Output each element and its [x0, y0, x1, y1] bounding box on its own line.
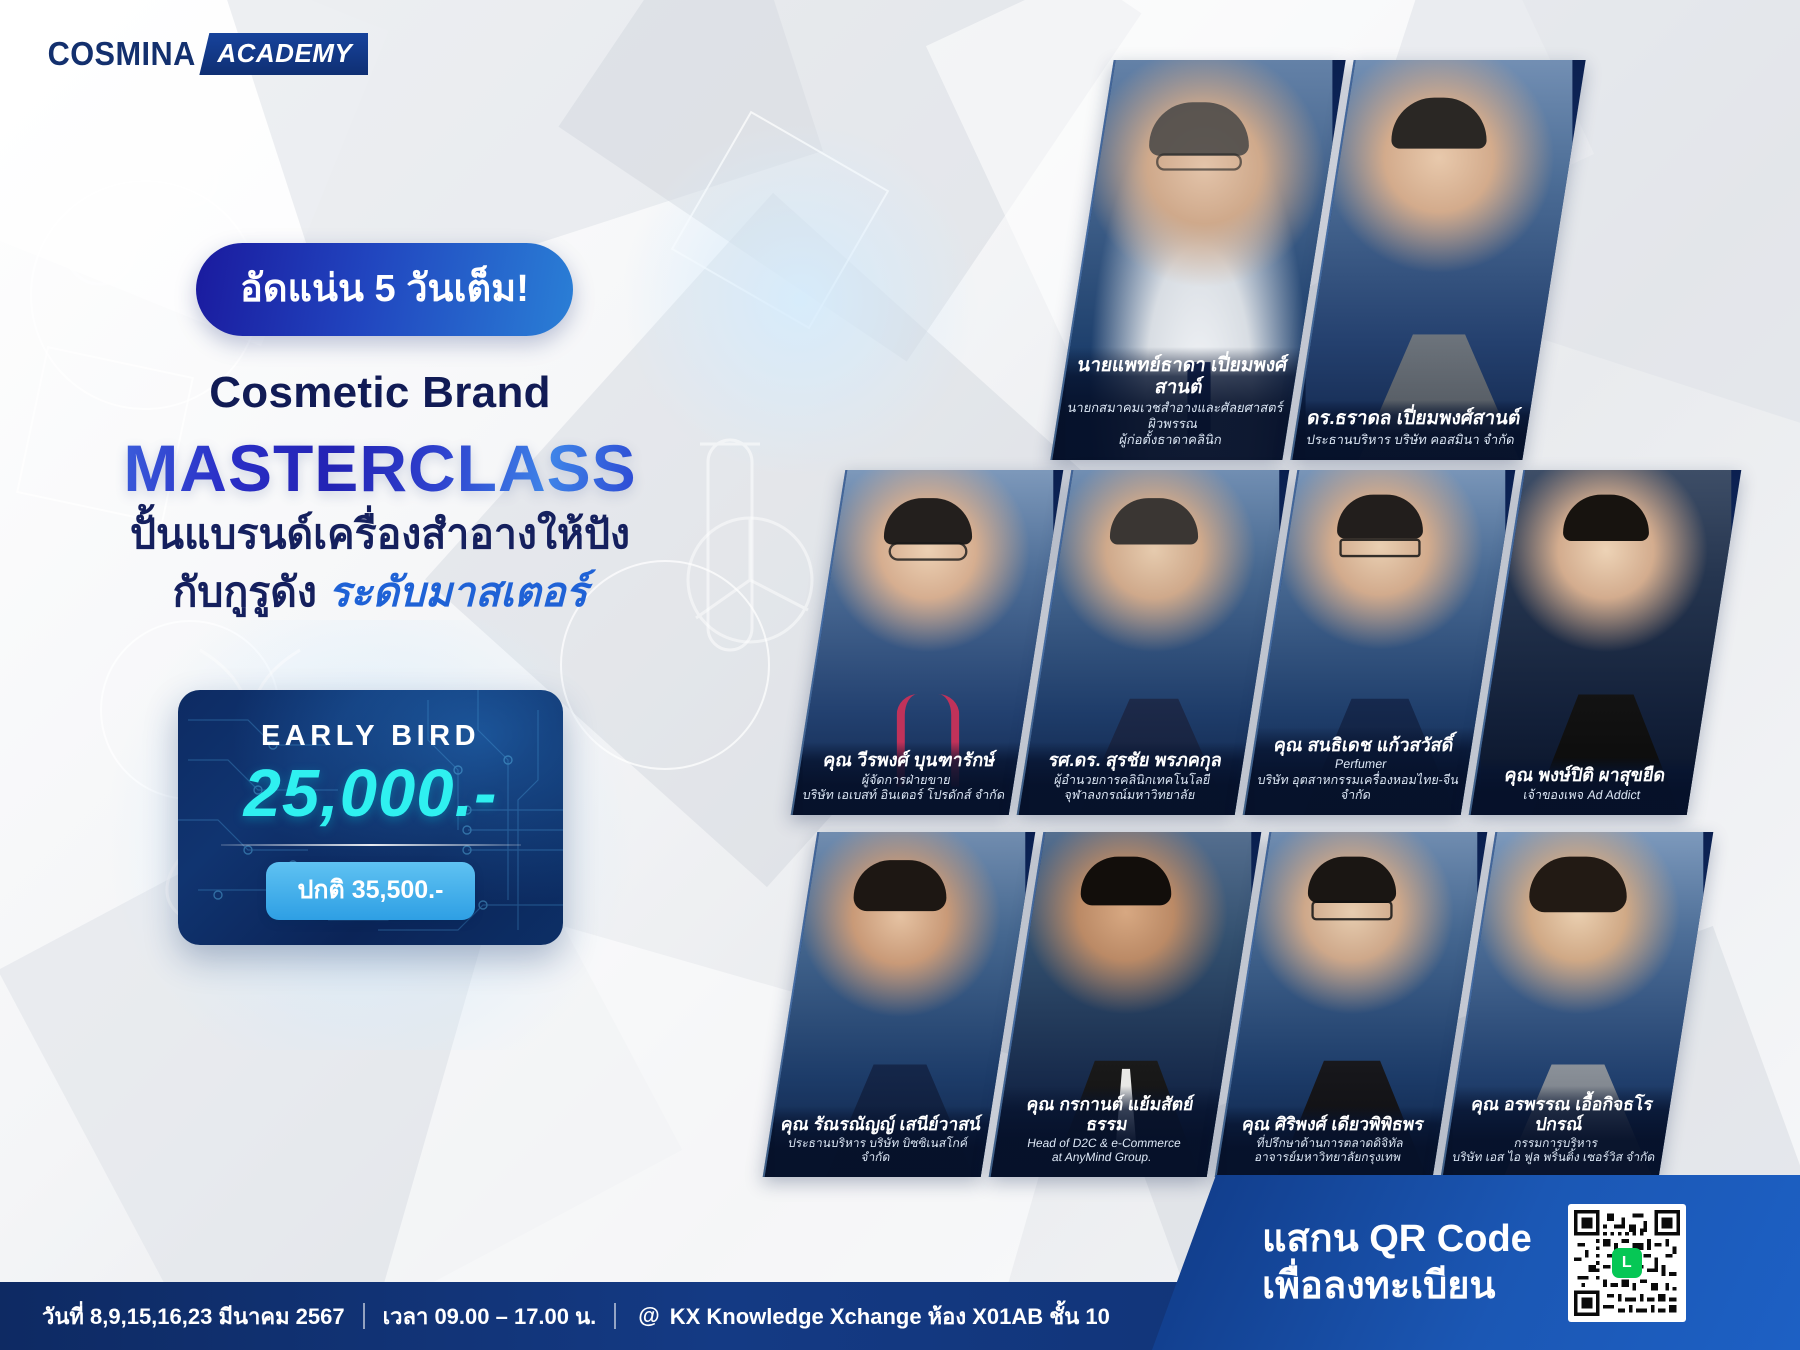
early-bird-amount: 25,000.-: [178, 755, 563, 832]
speaker-glasses-icon: [889, 542, 968, 561]
speaker-name: คุณ รัณรณัญญ์ เสนีย์วาสน์: [778, 1114, 985, 1134]
speaker-name-band: คุณ พงษ์ปิติ ผาสุขยืด เจ้าของเพจ Ad Addi…: [1471, 757, 1696, 815]
speaker-tile: คุณ สนธิเดช แก้วสวัสดิ์ Perfumer บริษัท …: [1243, 470, 1516, 815]
speaker-name: รศ.ดร. สุรชัย พรภคกุล: [1032, 750, 1239, 771]
speaker-role-line-1: ผู้อำนวยการคลินิกเทคโนโลยี: [1029, 773, 1235, 788]
speaker-name-band: คุณ กรกานต์ แย้มสัตย์ธรรม Head of D2C & …: [991, 1086, 1221, 1178]
speaker-role-line-1: ประธานบริหาร บริษัท คอสมินา จำกัด: [1300, 432, 1521, 448]
speaker-role-line-1: เจ้าของเพจ Ad Addict: [1479, 788, 1685, 803]
speaker-role-line-1: กรรมการบริหาร: [1453, 1136, 1659, 1151]
speaker-name: คุณ ศิริพงศ์ เดียวพิพิธพร: [1230, 1114, 1437, 1134]
price-card-content: EARLY BIRD 25,000.- ปกติ 35,500.-: [178, 690, 563, 920]
price-divider: [221, 844, 521, 846]
speaker-tile: รศ.ดร. สุรชัย พรภคกุล ผู้อำนวยการคลินิกเ…: [1017, 470, 1290, 815]
footer-at-symbol: @: [638, 1303, 659, 1329]
speaker-glasses-icon: [1339, 538, 1420, 557]
speaker-role-line-1: ที่ปรึกษาด้านการตลาดดิจิทัล: [1227, 1136, 1433, 1151]
footer-venue: KX Knowledge Xchange ห้อง X01AB ชั้น 10: [670, 1299, 1110, 1334]
speaker-name-band: คุณ ศิริพงศ์ เดียวพิพิธพร ที่ปรึกษาด้านก…: [1217, 1106, 1444, 1177]
speaker-name-band: นายแพทย์ธาดา เปี่ยมพงศ์สานต์ นายกสมาคมเว…: [1052, 347, 1300, 460]
speaker-role-line-2: บริษัท เอเบสท์ อินเตอร์ โปรดักส์ จำกัด: [801, 788, 1007, 803]
speaker-role-line-1: Head of D2C & e-Commerce: [1001, 1136, 1207, 1151]
line-app-icon: L: [1612, 1248, 1642, 1278]
footer-date: วันที่ 8,9,15,16,23 มีนาคม 2567: [42, 1299, 345, 1334]
speaker-tile: คุณ ศิริพงศ์ เดียวพิพิธพร ที่ปรึกษาด้านก…: [1215, 832, 1488, 1177]
early-bird-label: EARLY BIRD: [178, 720, 563, 753]
speaker-name-band: คุณ วีรพงศ์ บุนฑารักษ์ ผู้จัดการฝ่ายขาย …: [793, 742, 1021, 815]
speaker-name-band: รศ.ดร. สุรชัย พรภคกุล ผู้อำนวยการคลินิกเ…: [1019, 742, 1247, 815]
speaker-glasses-icon: [1311, 900, 1392, 920]
qr-line-2: เพื่อลงทะเบียน: [1262, 1263, 1532, 1309]
speaker-role-line-1: ประธานบริหาร บริษัท บิซซิเนสโกค์ จำกัด: [773, 1136, 982, 1165]
speaker-name: นายแพทย์ธาดา เปี่ยมพงศ์สานต์: [1068, 355, 1293, 399]
footer-time: เวลา 09.00 – 17.00 น.: [383, 1299, 597, 1334]
footer-divider: [363, 1303, 365, 1329]
speaker-name: คุณ กรกานต์ แย้มสัตย์ธรรม: [1004, 1094, 1214, 1134]
speaker-glasses-icon: [1156, 153, 1242, 170]
speaker-tile: คุณ รัณรณัญญ์ เสนีย์วาสน์ ประธานบริหาร บ…: [763, 832, 1036, 1177]
speaker-role-line-2: จุฬาลงกรณ์มหาวิทยาลัย: [1027, 788, 1233, 803]
speaker-name-band: ดร.ธราดล เปี่ยมพงศ์สานต์ ประธานบริหาร บร…: [1292, 400, 1531, 460]
speaker-name: คุณ สนธิเดช แก้วสวัสดิ์: [1260, 735, 1467, 756]
early-bird-price-card: EARLY BIRD 25,000.- ปกติ 35,500.-: [178, 690, 563, 945]
speaker-tile: คุณ วีรพงศ์ บุนฑารักษ์ ผู้จัดการฝ่ายขาย …: [791, 470, 1064, 815]
speaker-role-line-2: ผู้ก่อตั้งธาดาคลินิก: [1060, 432, 1281, 448]
normal-price-badge: ปกติ 35,500.-: [266, 862, 476, 920]
speaker-name-band: คุณ อรพรรณ เอื้อกิจธโรปกรณ์ กรรมการบริหา…: [1443, 1086, 1673, 1178]
qr-code[interactable]: L: [1568, 1204, 1686, 1322]
speaker-role-line-1: ผู้จัดการฝ่ายขาย: [803, 773, 1009, 788]
speaker-role-line-1: Perfumer: [1257, 757, 1463, 772]
speaker-name: คุณ วีรพงศ์ บุนฑารักษ์: [806, 750, 1013, 771]
qr-text-block: แสกน QR Code เพื่อลงทะเบียน: [1262, 1216, 1532, 1309]
speaker-name: ดร.ธราดล เปี่ยมพงศ์สานต์: [1303, 408, 1524, 430]
speaker-role-line-2: at AnyMind Group.: [999, 1150, 1205, 1165]
speaker-tile: คุณ อรพรรณ เอื้อกิจธโรปกรณ์ กรรมการบริหา…: [1441, 832, 1714, 1177]
speaker-role-line-2: อาจารย์มหาวิทยาลัยกรุงเทพ: [1225, 1150, 1431, 1165]
speaker-tile: คุณ กรกานต์ แย้มสัตย์ธรรม Head of D2C & …: [989, 832, 1262, 1177]
speaker-name-band: คุณ สนธิเดช แก้วสวัสดิ์ Perfumer บริษัท …: [1245, 727, 1475, 815]
speaker-tile: คุณ พงษ์ปิติ ผาสุขยืด เจ้าของเพจ Ad Addi…: [1469, 470, 1742, 815]
speaker-role-line-2: บริษัท เอส ไอ ฟูล พริ้นติ้ง เซอร์วิส จำก…: [1451, 1150, 1657, 1165]
speaker-role-line-2: บริษัท อุตสาหกรรมเครื่องหอมไทย-จีน จำกัด: [1253, 773, 1462, 804]
qr-registration-panel[interactable]: แสกน QR Code เพื่อลงทะเบียน: [1152, 1175, 1800, 1350]
speaker-name: คุณ พงษ์ปิติ ผาสุขยืด: [1481, 765, 1688, 786]
speaker-role-line-1: นายกสมาคมเวชสำอางและศัลยศาสตร์ผิวพรรณ: [1063, 400, 1286, 432]
speakers-grid: นายแพทย์ธาดา เปี่ยมพงศ์สานต์ นายกสมาคมเว…: [0, 0, 1800, 1250]
qr-line-1: แสกน QR Code: [1262, 1216, 1532, 1262]
speaker-name: คุณ อรพรรณ เอื้อกิจธโรปกรณ์: [1456, 1094, 1666, 1134]
speaker-name-band: คุณ รัณรณัญญ์ เสนีย์วาสน์ ประธานบริหาร บ…: [765, 1106, 992, 1177]
speaker-hair-detail: [854, 860, 947, 911]
footer-divider: [614, 1303, 616, 1329]
